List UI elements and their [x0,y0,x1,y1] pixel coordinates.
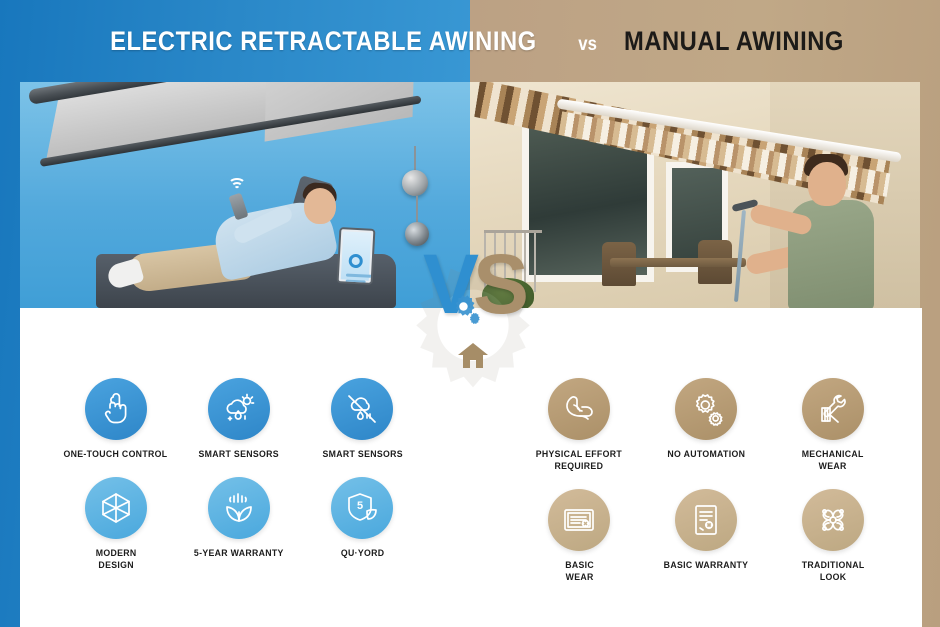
touch-hand-icon [99,392,133,426]
title-manual: MANUAL AWINING [624,26,844,57]
sensor-wire [416,196,418,224]
feature-modern-design[interactable]: MODERN DESIGN [54,477,177,572]
title-vs-separator: vs [578,34,597,56]
shield-five-leaf-icon: 5 [345,491,379,525]
feature-circle [675,378,737,440]
feature-label: TRADITIONAL LOOK [801,560,864,584]
feature-label: ONE-TOUCH CONTROL [64,449,168,461]
feature-mechanical-wear[interactable]: MECHANICAL WEAR [769,378,896,473]
sun-rain-cloud-icon [222,392,256,426]
feature-basic-warranty[interactable]: BASIC WARRANTY [643,489,770,584]
feature-one-touch-control[interactable]: ONE-TOUCH CONTROL [54,378,177,461]
feature-no-automation[interactable]: NO AUTOMATION [643,378,770,473]
manual-awning-photo [470,82,920,310]
person-head [808,162,846,206]
warranty-number: 5 [357,500,363,512]
feature-label: MECHANICAL WEAR [802,449,864,473]
tablet-screen [341,231,371,280]
feature-label: QU·YORD [341,548,385,560]
feature-circle [85,378,147,440]
ornamental-scroll-icon [816,503,850,537]
feature-circle [675,489,737,551]
feature-circle [85,477,147,539]
no-rain-wind-icon [345,392,379,426]
feature-label: SMART SENSORS [322,449,402,461]
electric-awning-photo [20,82,470,310]
hexagon-cube-icon [99,491,133,525]
feature-circle [208,378,270,440]
feature-5-year-warranty[interactable]: 5-YEAR WARRANTY [177,477,300,572]
infographic-stage: ELECTRIC RETRACTABLE AWINING vs MANUAL A… [0,0,940,627]
feature-label: NO AUTOMATION [667,449,745,461]
feature-circle [802,489,864,551]
person-head [304,188,336,224]
feature-circle [548,378,610,440]
sun-sensor-icon [405,222,429,246]
feature-label: 5-YEAR WARRANTY [194,548,284,560]
gears-icon [689,392,723,426]
feature-label: BASIC WARRANTY [664,560,749,572]
feature-label: PHYSICAL EFFORT REQUIRED [536,449,622,473]
feature-label: MODERN DESIGN [95,548,136,572]
feature-traditional-look[interactable]: TRADITIONAL LOOK [769,489,896,584]
feature-basic-wear[interactable]: BASIC WEAR [516,489,643,584]
feature-circle: 5 [331,477,393,539]
feature-circle [208,477,270,539]
electric-awning-graphic [28,82,425,161]
electric-features-grid: ONE-TOUCH CONTROL SMART SENSORS [54,378,424,572]
wifi-signal-icon [227,179,247,192]
header-bar: ELECTRIC RETRACTABLE AWINING vs MANUAL A… [0,0,940,82]
wrench-tools-icon [816,392,850,426]
certificate-portrait-icon [689,503,723,537]
manual-features-grid: PHYSICAL EFFORT REQUIRED NO AUTOMATION [516,378,896,584]
feature-quality-rating[interactable]: 5 QU·YORD [301,477,424,572]
patio-table [610,258,746,267]
feature-smart-sensors-rain[interactable]: SMART SENSORS [177,378,300,461]
flexed-biceps-icon [562,392,596,426]
title-row: ELECTRIC RETRACTABLE AWINING vs MANUAL A… [81,26,859,57]
tablet-app-device [337,227,376,285]
title-electric: ELECTRIC RETRACTABLE AWINING [110,26,537,57]
certificate-landscape-icon [562,503,596,537]
feature-label: BASIC WEAR [565,560,594,584]
photo-band [20,82,920,310]
garden-bush [482,278,534,310]
feature-circle [548,489,610,551]
feature-circle [802,378,864,440]
eco-leaf-signal-icon [222,491,256,525]
wind-sensor-icon [402,170,428,196]
sensor-wire [414,146,416,172]
app-dial-icon [348,254,363,269]
feature-label: SMART SENSORS [199,449,279,461]
feature-physical-effort[interactable]: PHYSICAL EFFORT REQUIRED [516,378,643,473]
feature-smart-sensors-wind[interactable]: SMART SENSORS [301,378,424,461]
feature-circle [331,378,393,440]
